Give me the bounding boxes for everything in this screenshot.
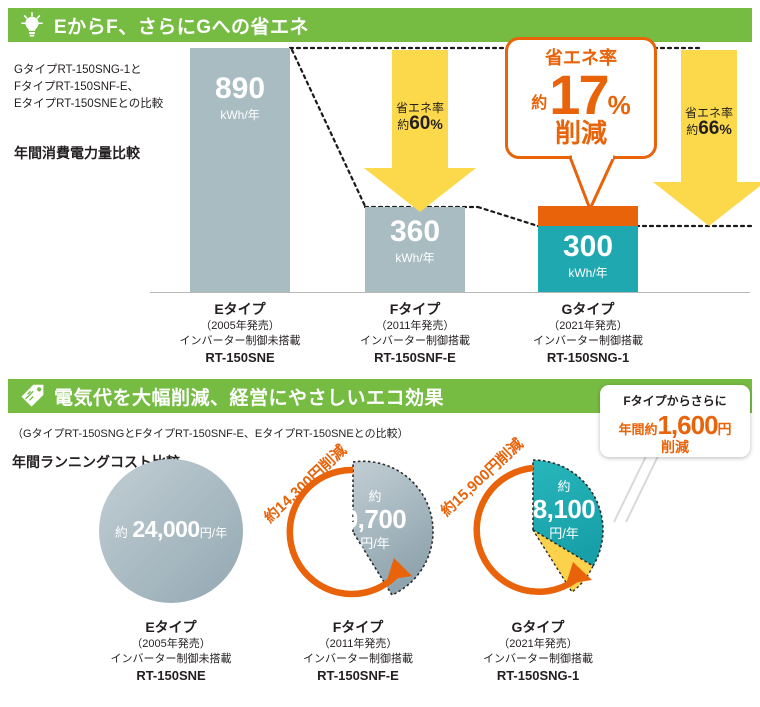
- pie-g-label: 約 8,100 円/年: [516, 476, 612, 542]
- pie-f-unit: 円/年: [332, 533, 418, 552]
- bar-cat-e-name: Eタイプ: [160, 300, 320, 319]
- pie-f-label: 約 9,700 円/年: [332, 486, 418, 552]
- bar-cat-f-model: RT-150SNF-E: [335, 349, 495, 367]
- callout-saving-17: 省エネ率 約 17 % 削減: [505, 37, 657, 159]
- pie-cat-g-name: Gタイプ: [458, 618, 618, 637]
- section2-title: 電気代を大幅削減、経営にやさしいエコ効果: [54, 383, 444, 410]
- arrow-saving-60-label: 省エネ率 約60%: [362, 100, 478, 133]
- bar-cat-g-model: RT-150SNG-1: [508, 349, 668, 367]
- arrow1-value: 60: [409, 113, 430, 134]
- bar-f-value: 360: [365, 217, 465, 247]
- pie-f-type: 約 9,700 円/年 約14,300円削減: [288, 462, 428, 602]
- pie-cat-e-spec: インバーター制御未搭載: [91, 652, 251, 667]
- arrow2-value: 66: [698, 118, 719, 139]
- pie-cat-g-year: （2021年発売）: [458, 637, 618, 652]
- bar-g-unit: kWh/年: [538, 266, 638, 280]
- wcallout-value-row: 年間約 1,600 円: [600, 412, 750, 438]
- wcallout-value: 1,600: [657, 412, 717, 438]
- pie-category-g: Gタイプ （2021年発売） インバーター制御搭載 RT-150SNG-1: [458, 618, 618, 685]
- bar-f-unit: kWh/年: [365, 251, 465, 265]
- bar-cat-g-year: （2021年発売）: [508, 319, 668, 334]
- pie-e-unit: 円/年: [200, 526, 227, 540]
- bar-e-unit: kWh/年: [190, 108, 290, 122]
- infographic-root: EからF、さらにGへの省エネ GタイプRT-150SNG-1と FタイプRT-1…: [0, 0, 760, 707]
- pie-g-approx: 約: [516, 476, 612, 495]
- pie-f-approx: 約: [332, 486, 418, 505]
- arrow-saving-66: 省エネ率 約66%: [681, 50, 737, 226]
- arrow-saving-66-label: 省エネ率 約66%: [651, 105, 760, 138]
- pie-cat-f-name: Fタイプ: [278, 618, 438, 637]
- price-tag-icon: [18, 382, 46, 410]
- pie-cat-e-name: Eタイプ: [91, 618, 251, 637]
- bar-cat-f-spec: インバーター制御搭載: [335, 334, 495, 349]
- pie-cat-f-model: RT-150SNF-E: [278, 667, 438, 685]
- pie-g-type: 約 8,100 円/年 約15,900円削減: [468, 458, 618, 608]
- pie-g-unit: 円/年: [516, 523, 612, 542]
- callout-pct: %: [608, 92, 631, 118]
- bar-category-e: Eタイプ （2005年発売） インバーター制御未搭載 RT-150SNE: [160, 300, 320, 367]
- pie-cat-f-year: （2011年発売）: [278, 637, 438, 652]
- callout-bottom-label: 削減: [508, 119, 654, 147]
- pie-e-approx: 約: [115, 525, 128, 540]
- pie-category-e: Eタイプ （2005年発売） インバーター制御未搭載 RT-150SNE: [91, 618, 251, 685]
- arrow2-approx: 約: [686, 123, 698, 137]
- bar-category-g: Gタイプ （2021年発売） インバーター制御搭載 RT-150SNG-1: [508, 300, 668, 367]
- wcallout-prefix: 年間約: [618, 423, 657, 436]
- bar-category-f: Fタイプ （2011年発売） インバーター制御搭載 RT-150SNF-E: [335, 300, 495, 367]
- pie-cat-e-year: （2005年発売）: [91, 637, 251, 652]
- arrow1-pct: %: [430, 116, 442, 132]
- bar-cat-f-year: （2011年発売）: [335, 319, 495, 334]
- bar-cat-e-model: RT-150SNE: [160, 349, 320, 367]
- bar-e-type: 890 kWh/年: [190, 48, 290, 292]
- arrow1-approx: 約: [397, 118, 409, 132]
- wcallout-line1: Fタイプからさらに: [600, 393, 750, 409]
- callout-value-row: 約 17 %: [508, 67, 654, 123]
- bar-cat-e-year: （2005年発売）: [160, 319, 320, 334]
- bar-f-type: 360 kWh/年: [365, 207, 465, 292]
- arrow2-pct: %: [719, 121, 731, 137]
- bar-g-type: 300 kWh/年: [538, 226, 638, 292]
- bar-cat-g-name: Gタイプ: [508, 300, 668, 319]
- callout-approx: 約: [531, 96, 547, 112]
- callout-value: 17: [549, 67, 607, 123]
- bar-g-value: 300: [538, 232, 638, 262]
- pie-f-value: 9,700: [332, 505, 418, 533]
- pie-e-type: 約 24,000円/年: [98, 458, 244, 604]
- pie-cat-g-spec: インバーター制御搭載: [458, 652, 618, 667]
- bar-cat-e-spec: インバーター制御未搭載: [160, 334, 320, 349]
- bar-cat-f-name: Fタイプ: [335, 300, 495, 319]
- bar-cat-g-spec: インバーター制御搭載: [508, 334, 668, 349]
- pie-category-f: Fタイプ （2011年発売） インバーター制御搭載 RT-150SNF-E: [278, 618, 438, 685]
- callout-tail: [568, 155, 628, 211]
- pie-e-value: 24,000: [132, 516, 199, 542]
- arrow-saving-60: 省エネ率 約60%: [392, 50, 448, 212]
- pie-g-value: 8,100: [516, 495, 612, 523]
- pie-e-label: 約 24,000円/年: [98, 516, 244, 543]
- bar-e-value: 890: [190, 74, 290, 104]
- pie-cat-f-spec: インバーター制御搭載: [278, 652, 438, 667]
- pie-cat-e-model: RT-150SNE: [91, 667, 251, 685]
- pie-cat-g-model: RT-150SNG-1: [458, 667, 618, 685]
- wcallout-yen: 円: [718, 422, 732, 436]
